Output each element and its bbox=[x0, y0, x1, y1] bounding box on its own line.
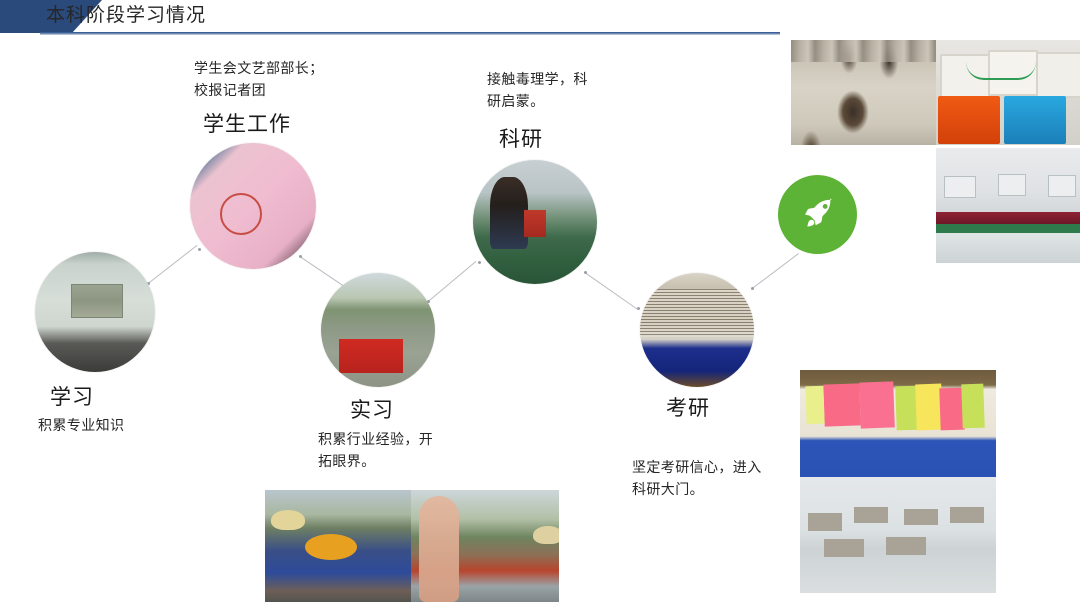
rocket-badge[interactable] bbox=[778, 175, 857, 254]
connector-dot bbox=[299, 255, 302, 258]
researcher-figure bbox=[490, 177, 527, 249]
lab-bench-front bbox=[936, 212, 1080, 224]
node-photo-research[interactable] bbox=[473, 160, 597, 284]
page-title: 本科阶段学习情况 bbox=[46, 2, 206, 30]
node-photo-internship[interactable] bbox=[321, 273, 435, 387]
connector-dot bbox=[478, 261, 481, 264]
slide-header: 本科阶段学习情况 bbox=[0, 0, 1080, 40]
study-photo-detail bbox=[71, 284, 123, 317]
rocket-icon bbox=[799, 195, 837, 233]
certificate-seal bbox=[220, 193, 262, 235]
node-caption-research-line1: 接触毒理学，科 bbox=[487, 68, 588, 90]
sticky-note-green-2 bbox=[961, 384, 985, 429]
finger-over-lens bbox=[419, 496, 459, 602]
red-banner bbox=[339, 339, 403, 373]
red-bucket bbox=[524, 210, 546, 237]
node-title-postgrad: 考研 bbox=[666, 392, 710, 422]
connector-postgrad-to-rocket bbox=[752, 253, 799, 289]
sticky-note-pink-1 bbox=[823, 383, 860, 426]
lab-cabinet-3 bbox=[1048, 175, 1076, 197]
crayfish-tubes bbox=[791, 40, 936, 62]
green-hose bbox=[966, 62, 1036, 80]
straw-hat-left bbox=[271, 510, 305, 530]
node-caption-study: 积累专业知识 bbox=[38, 414, 124, 436]
connector-dot bbox=[198, 248, 201, 251]
fieldwork-basket bbox=[305, 534, 357, 560]
node-caption-internship-line2: 拓眼界。 bbox=[318, 450, 376, 472]
node-title-research: 科研 bbox=[499, 123, 543, 153]
book-stack-detail bbox=[640, 289, 754, 337]
photo-classroom[interactable] bbox=[800, 477, 996, 593]
classroom-desk-5 bbox=[824, 539, 864, 557]
node-title-study: 学习 bbox=[50, 381, 94, 411]
classroom-desk-1 bbox=[808, 513, 842, 531]
lab-bench-base bbox=[936, 224, 1080, 233]
lab-cabinet-1 bbox=[944, 176, 976, 198]
photo-styrofoam-boxes[interactable] bbox=[936, 40, 1080, 145]
photo-fieldwork-right[interactable] bbox=[411, 490, 559, 602]
sticky-note-yellow-2 bbox=[805, 386, 824, 425]
node-photo-student-work[interactable] bbox=[190, 143, 316, 269]
node-caption-internship-line1: 积累行业经验，开 bbox=[318, 428, 433, 450]
photo-crayfish[interactable] bbox=[791, 40, 936, 145]
node-caption-student-work-line2: 校报记者团 bbox=[194, 79, 266, 101]
node-caption-postgrad-line2: 科研大门。 bbox=[632, 478, 704, 500]
box-white-3 bbox=[1036, 52, 1080, 98]
node-title-internship: 实习 bbox=[350, 394, 394, 424]
classroom-desk-2 bbox=[854, 507, 888, 523]
connector-research-to-postgrad bbox=[584, 272, 637, 310]
connector-studentwork-to-internship bbox=[299, 256, 348, 289]
classroom-desk-3 bbox=[904, 509, 938, 525]
photo-fieldwork-left[interactable] bbox=[265, 490, 411, 602]
photo-sticky-notes[interactable] bbox=[800, 370, 996, 477]
straw-hat-right bbox=[533, 526, 559, 544]
node-caption-postgrad-line1: 坚定考研信心，进入 bbox=[632, 456, 762, 478]
box-blue bbox=[1004, 96, 1066, 144]
connector-dot bbox=[584, 271, 587, 274]
node-caption-student-work-line1: 学生会文艺部部长； bbox=[194, 57, 324, 79]
slide-canvas: 本科阶段学习情况 学习 积累专业知识 学生工作 学生会文艺部部长； 校报记者团 bbox=[0, 0, 1080, 608]
header-divider bbox=[40, 32, 780, 35]
box-orange bbox=[938, 96, 1000, 144]
node-caption-research-line2: 研启蒙。 bbox=[487, 90, 545, 112]
classroom-desk-6 bbox=[886, 537, 926, 555]
lab-floor bbox=[936, 233, 1080, 263]
sticky-note-pink-2 bbox=[859, 381, 895, 428]
node-photo-study[interactable] bbox=[35, 252, 155, 372]
photo-laboratory[interactable] bbox=[936, 148, 1080, 263]
connector-study-to-studentwork bbox=[148, 245, 197, 284]
connector-internship-to-research bbox=[428, 261, 476, 302]
classroom-desk-4 bbox=[950, 507, 984, 523]
node-photo-postgrad[interactable] bbox=[640, 273, 754, 387]
lab-cabinet-2 bbox=[998, 174, 1026, 196]
node-title-student-work: 学生工作 bbox=[203, 108, 291, 138]
